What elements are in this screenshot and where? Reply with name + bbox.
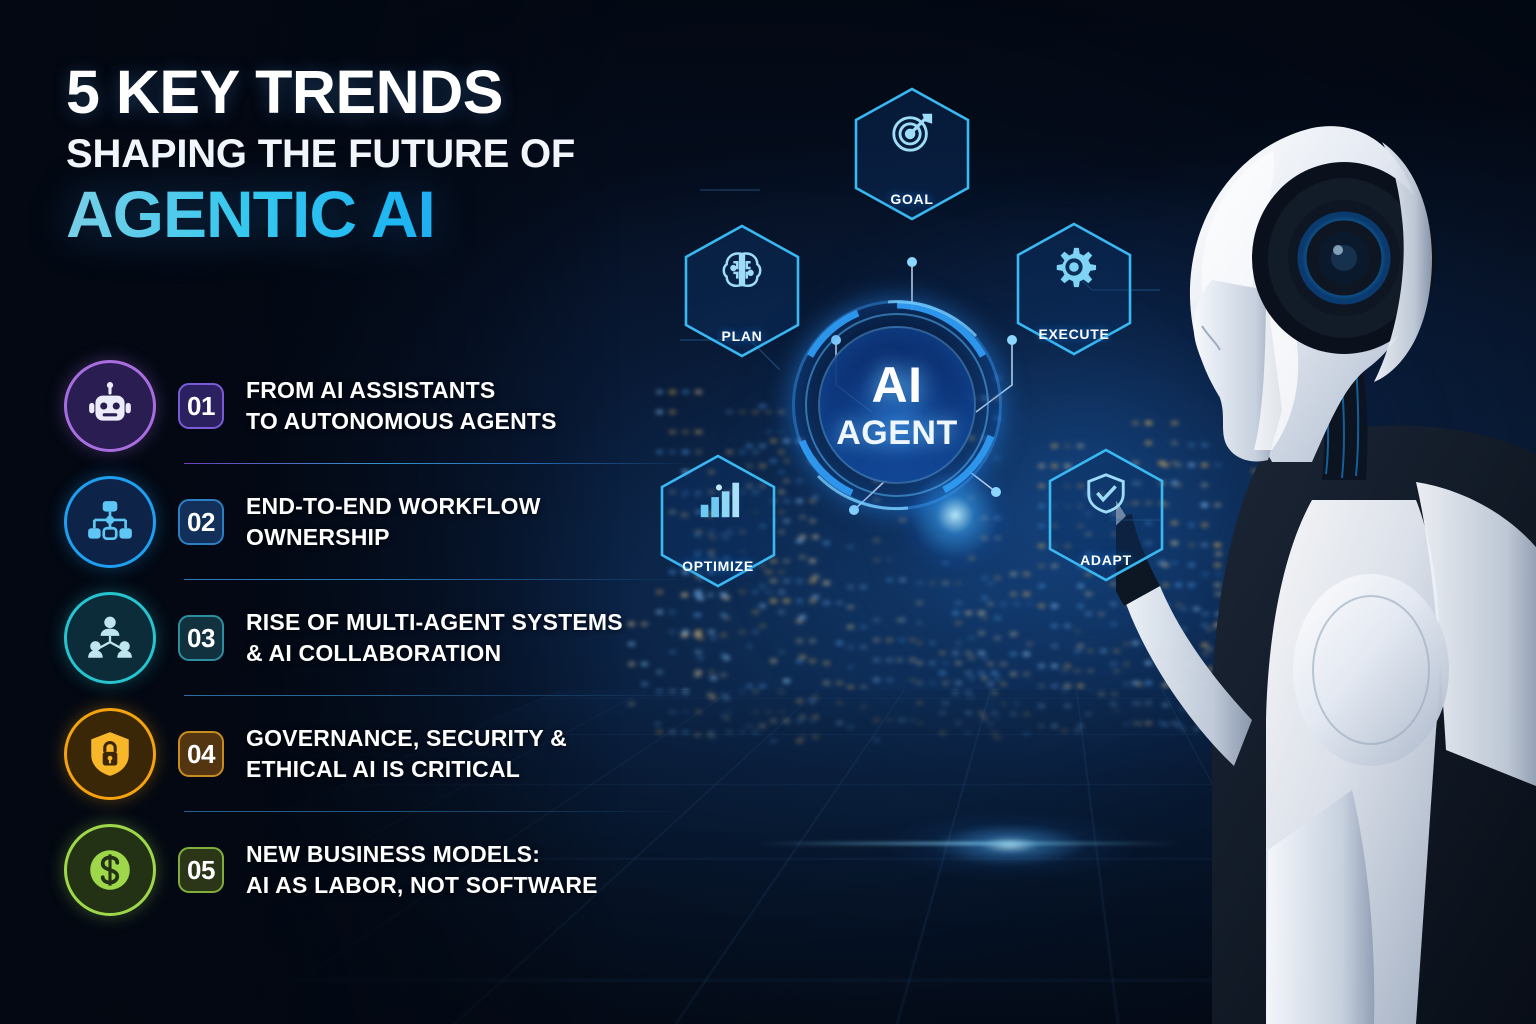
trends-list: 01FROM AI ASSISTANTSTO AUTONOMOUS AGENTS… [64,348,664,928]
building-window [899,638,906,642]
building-window [1085,712,1092,716]
building-window [916,661,923,665]
building-window [1010,632,1017,636]
building-window [812,735,819,739]
building-window [778,690,785,694]
building-window [669,710,676,714]
building-window [752,630,759,634]
hex-label-optimize: OPTIMIZE [656,558,780,574]
building-window [1061,729,1068,733]
building-window [695,630,702,634]
headline-block: 5 KEY TRENDS SHAPING THE FUTURE OF AGENT… [66,62,706,247]
building-window [886,638,893,642]
trend-icon-circle [64,708,156,800]
building-window [707,733,714,737]
building-window [710,676,717,680]
building-window [695,710,702,714]
building-window [981,716,988,720]
trend-number-badge: 03 [178,615,224,661]
building-window [759,724,766,728]
building-window [710,696,717,700]
building-window [987,722,994,726]
building-window [939,651,946,655]
building-window [1000,662,1007,666]
building-window [669,630,676,634]
building-window [726,730,733,734]
trend-item-03[interactable]: 03RISE OF MULTI-AGENT SYSTEMS& AI COLLAB… [64,580,664,696]
building-window [952,651,959,655]
building-window [746,644,753,648]
building-window [681,633,688,637]
trend-item-02[interactable]: 02END-TO-END WORKFLOWOWNERSHIP [64,464,664,580]
building-window [1061,689,1068,693]
trend-icon-circle [64,824,156,916]
building-window [929,661,936,665]
building-window [799,715,806,719]
building-window [939,671,946,675]
building-window [860,625,867,629]
building-window [708,730,715,734]
building-window [1051,684,1058,688]
building-window [847,665,854,669]
building-window [860,685,867,689]
building-window [968,636,975,640]
trend-item-04[interactable]: 04GOVERNANCE, SECURITY &ETHICAL AI IS CR… [64,696,664,812]
building-window [1023,712,1030,716]
hex-node-goal[interactable]: GOAL [850,85,974,223]
building-window [916,641,923,645]
building-window [682,730,689,734]
trend-label-line-2: ETHICAL AI IS CRITICAL [246,754,567,785]
building-window [1077,644,1084,648]
building-window [739,730,746,734]
building-window [1087,689,1094,693]
building-window [1061,669,1068,673]
building-window [752,730,759,734]
building-window [1051,724,1058,728]
building-window [682,690,689,694]
building-window [1098,692,1105,696]
building-window [765,710,772,714]
core-label-block: AI AGENT [792,300,1002,510]
building-window [1010,672,1017,676]
trend-number-badge: 05 [178,847,224,893]
building-window [809,659,816,663]
building-window [739,630,746,634]
trend-label-line-2: & AI COLLABORATION [246,638,623,669]
building-window [1064,704,1071,708]
building-window [783,719,790,723]
building-window [694,673,701,677]
building-window [955,621,962,625]
building-window [796,719,803,723]
trend-label: END-TO-END WORKFLOWOWNERSHIP [246,491,541,552]
trend-item-01[interactable]: 01FROM AI ASSISTANTSTO AUTONOMOUS AGENTS [64,348,664,464]
trend-item-05[interactable]: 05NEW BUSINESS MODELS:AI AS LABOR, NOT S… [64,812,664,928]
trend-label: FROM AI ASSISTANTSTO AUTONOMOUS AGENTS [246,375,557,436]
building-window [1010,712,1017,716]
building-window [896,658,903,662]
building-window [1087,649,1094,653]
headline-line-2: SHAPING THE FUTURE OF [66,134,706,174]
core-ai-agent-node[interactable]: AI AGENT [792,300,1002,510]
building-window [847,725,854,729]
trend-icon-circle [64,592,156,684]
building-window [1064,624,1071,628]
building-window [669,730,676,734]
building-window [978,651,985,655]
building-window [778,650,785,654]
building-window [1013,702,1020,706]
building-window [987,682,994,686]
building-window [860,645,867,649]
building-window [939,731,946,735]
trend-label-line-1: GOVERNANCE, SECURITY & [246,723,567,754]
building-window [694,733,701,737]
building-window [873,678,880,682]
building-window [909,718,916,722]
headline-line-3: AGENTIC AI [66,181,706,247]
building-window [799,735,806,739]
building-window [746,684,753,688]
building-window [916,621,923,625]
building-window [708,630,715,634]
building-window [752,690,759,694]
building-window [955,681,962,685]
building-window [812,695,819,699]
building-window [1064,664,1071,668]
building-window [981,676,988,680]
shield-lock-icon [85,729,135,779]
building-window [720,693,727,697]
workflow-hierarchy-icon [85,497,135,547]
hex-label-adapt: ADAPT [1044,552,1168,568]
building-window [1038,664,1045,668]
infographic-canvas: 5 KEY TRENDS SHAPING THE FUTURE OF AGENT… [0,0,1536,1024]
building-window [981,656,988,660]
building-window [909,638,916,642]
building-window [669,650,676,654]
light-flare [880,810,1140,880]
building-window [1074,729,1081,733]
building-window [942,681,949,685]
building-window [1100,649,1107,653]
core-label-ai: AI [872,360,923,410]
building-window [695,670,702,674]
building-window [955,721,962,725]
building-window [710,636,717,640]
trend-label-line-2: TO AUTONOMOUS AGENTS [246,406,557,437]
building-window [1051,664,1058,668]
building-window [991,711,998,715]
building-window [952,691,959,695]
building-window [965,731,972,735]
trend-label-line-1: NEW BUSINESS MODELS: [246,839,598,870]
building-window [994,636,1001,640]
building-window [809,699,816,703]
building-window [899,718,906,722]
trend-label: RISE OF MULTI-AGENT SYSTEMS& AI COLLABOR… [246,607,623,668]
building-window [873,638,880,642]
building-window [708,670,715,674]
building-window [916,721,923,725]
building-window [886,718,893,722]
multi-agent-network-icon [85,613,135,663]
building-window [929,681,936,685]
building-window [847,625,854,629]
building-window [916,681,923,685]
building-window [770,719,777,723]
building-window [968,696,975,700]
building-window [710,736,717,740]
trend-icon-circle [64,360,156,452]
building-window [669,690,676,694]
building-window [1038,684,1045,688]
building-window [778,710,785,714]
building-window [1026,642,1033,646]
building-window [1023,732,1030,736]
building-window [1074,629,1081,633]
building-window [796,659,803,663]
trend-number-badge: 01 [178,383,224,429]
building-window [809,639,816,643]
building-window [909,658,916,662]
building-window [1074,649,1081,653]
building-window [994,716,1001,720]
building-window [707,693,714,697]
hex-label-goal: GOAL [850,191,974,207]
building-window [720,713,727,717]
building-window [1023,652,1030,656]
building-window [812,715,819,719]
building-window [809,719,816,723]
building-window [739,690,746,694]
building-window [994,736,1001,740]
building-window [968,656,975,660]
building-window [796,739,803,743]
building-window [799,655,806,659]
building-window [942,701,949,705]
building-window [994,676,1001,680]
trend-label-line-2: AI AS LABOR, NOT SOFTWARE [246,870,598,901]
building-window [723,696,730,700]
building-window [955,661,962,665]
bar-chart-icon [656,476,780,522]
building-window [991,671,998,675]
building-window [723,716,730,720]
building-window [987,702,994,706]
building-window [770,739,777,743]
building-window [1038,704,1045,708]
building-window [1000,682,1007,686]
building-window [695,650,702,654]
building-window [860,705,867,709]
building-window [978,631,985,635]
building-window [720,673,727,677]
building-window [796,639,803,643]
building-window [916,701,923,705]
building-window [978,671,985,675]
hex-node-execute[interactable]: EXECUTE [1012,220,1136,358]
building-window [955,641,962,645]
building-window [987,662,994,666]
building-window [770,659,777,663]
building-window [759,684,766,688]
trend-number-badge: 04 [178,731,224,777]
trend-label: NEW BUSINESS MODELS:AI AS LABOR, NOT SOF… [246,839,598,900]
building-window [873,738,880,742]
trend-label-line-2: OWNERSHIP [246,522,541,553]
building-window [1074,669,1081,673]
core-label-agent: AGENT [836,416,958,450]
building-window [1077,684,1084,688]
robot-head-icon [85,381,135,431]
building-window [796,699,803,703]
building-window [991,691,998,695]
gear-icon [1012,244,1136,290]
building-window [978,711,985,715]
building-window [886,658,893,662]
building-window [823,661,830,665]
building-window [697,636,704,640]
trend-icon-circle [64,476,156,568]
building-window [939,711,946,715]
building-window [847,645,854,649]
shield-check-icon [1044,470,1168,516]
building-window [682,710,689,714]
building-window [726,710,733,714]
building-window [909,678,916,682]
hex-node-plan[interactable]: PLAN [680,222,804,360]
building-window [873,658,880,662]
hex-label-plan: PLAN [680,328,804,344]
building-window [823,681,830,685]
building-window [836,641,843,645]
hex-node-optimize[interactable]: OPTIMIZE [656,452,780,590]
building-window [968,676,975,680]
hex-label-execute: EXECUTE [1012,326,1136,342]
agent-loop-diagram: GOAL PLAN [640,40,1200,620]
building-window [836,701,843,705]
building-window [836,681,843,685]
building-window [1038,724,1045,728]
building-window [886,678,893,682]
building-window [752,710,759,714]
building-window [1051,644,1058,648]
building-window [965,671,972,675]
headline-line-1: 5 KEY TRENDS [66,62,706,123]
building-window [873,718,880,722]
building-window [682,630,689,634]
building-window [746,724,753,728]
dollar-circle-icon [85,845,135,895]
building-window [847,685,854,689]
brain-circuit-icon [680,246,804,292]
trend-number-badge: 02 [178,499,224,545]
building-window [896,718,903,722]
trend-label: GOVERNANCE, SECURITY &ETHICAL AI IS CRIT… [246,723,567,784]
hex-node-adapt[interactable]: ADAPT [1044,446,1168,584]
building-window [720,633,727,637]
building-window [965,651,972,655]
building-window [697,656,704,660]
target-arrow-icon [850,109,974,155]
building-window [929,641,936,645]
building-window [1000,702,1007,706]
building-window [965,691,972,695]
trend-label-line-1: FROM AI ASSISTANTS [246,375,557,406]
building-window [836,721,843,725]
building-window [1051,624,1058,628]
building-window [720,653,727,657]
building-window [942,661,949,665]
building-window [1023,672,1030,676]
building-window [1064,684,1071,688]
building-window [991,731,998,735]
building-window [965,711,972,715]
building-window [1077,724,1084,728]
building-window [1010,652,1017,656]
building-window [723,656,730,660]
trend-label-line-1: END-TO-END WORKFLOW [246,491,541,522]
trend-label-line-1: RISE OF MULTI-AGENT SYSTEMS [246,607,623,638]
building-window [783,679,790,683]
building-window [1087,669,1094,673]
building [934,601,1010,750]
building-window [694,633,701,637]
building-window [759,624,766,628]
